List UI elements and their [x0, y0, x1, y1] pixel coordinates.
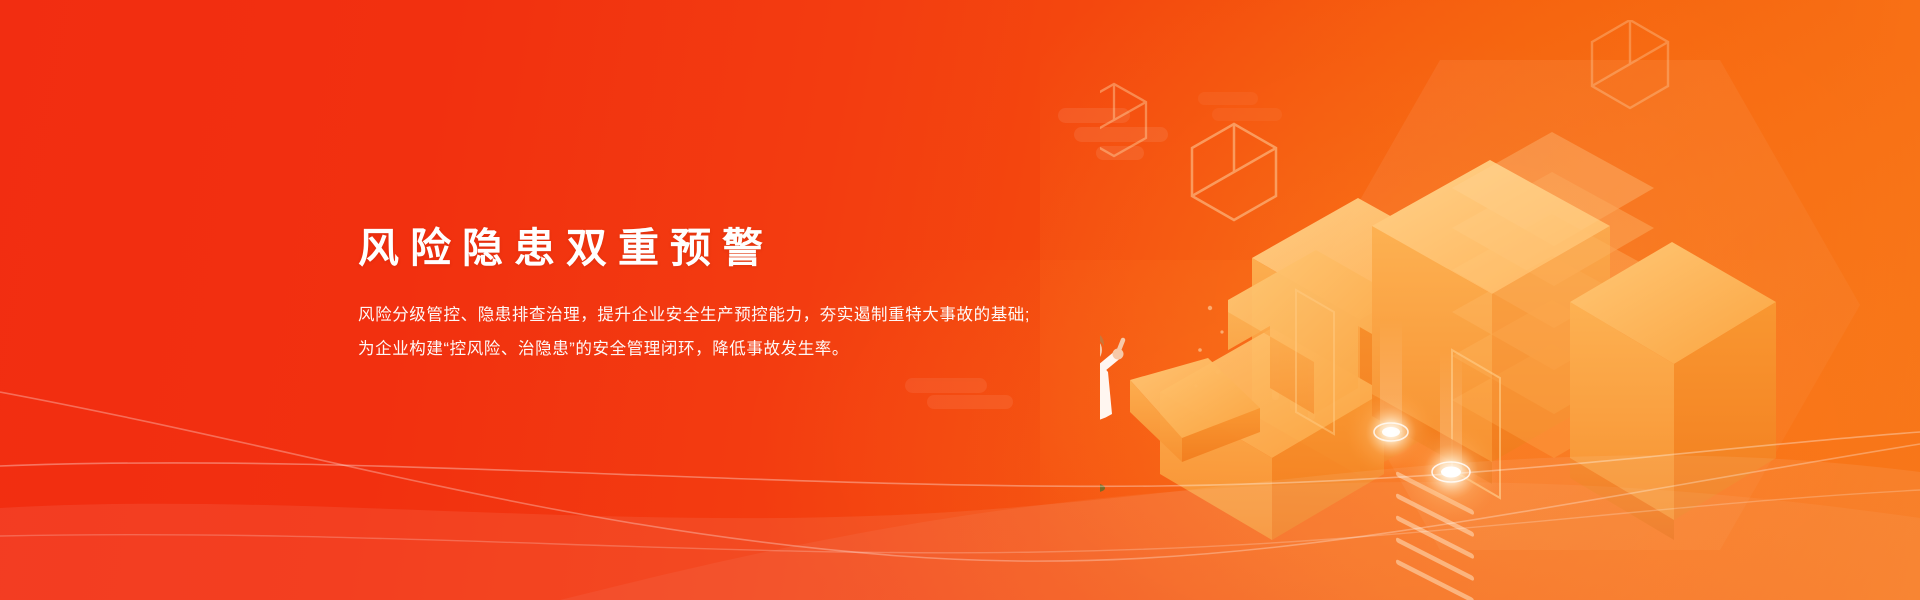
hero-banner: 风险隐患双重预警 风险分级管控、隐患排查治理，提升企业安全生产预控能力，夯实遏制…: [0, 0, 1920, 600]
hexagon-cube-medium: [1192, 124, 1276, 220]
wave-decoration: [0, 340, 1920, 600]
hexagon-cube-small: [1100, 84, 1146, 156]
subtitle-line-1: 风险分级管控、隐患排查治理，提升企业安全生产预控能力，夯实遏制重特大事故的基础;: [358, 298, 1158, 332]
page-title: 风险隐患双重预警: [358, 226, 1158, 272]
hero-subtitle: 风险分级管控、隐患排查治理，提升企业安全生产预控能力，夯实遏制重特大事故的基础;…: [358, 298, 1158, 366]
subtitle-line-2: 为企业构建“控风险、治隐患”的安全管理闭环，降低事故发生率。: [358, 332, 1158, 366]
hero-copy: 风险隐患双重预警 风险分级管控、隐患排查治理，提升企业安全生产预控能力，夯实遏制…: [358, 226, 1158, 366]
